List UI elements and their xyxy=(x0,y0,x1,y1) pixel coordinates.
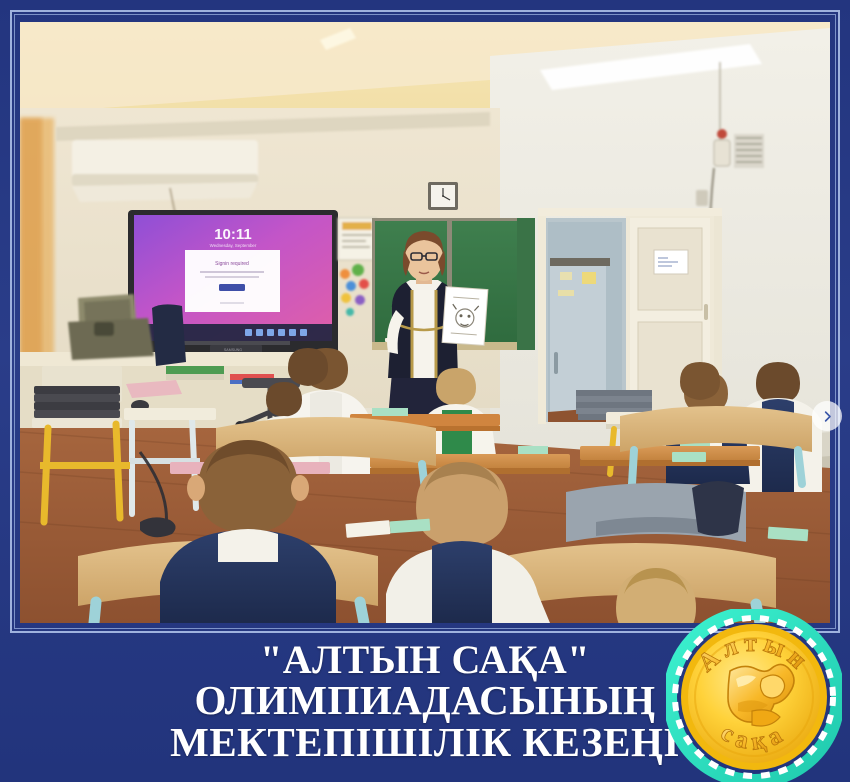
svg-text:Signin required: Signin required xyxy=(215,261,249,267)
social-post-slide: 10:11 Wednesday, September Signin requir… xyxy=(0,0,850,782)
classroom-photo: 10:11 Wednesday, September Signin requir… xyxy=(20,22,830,623)
svg-text:Wednesday, September: Wednesday, September xyxy=(210,243,257,248)
svg-text:10:11: 10:11 xyxy=(214,226,252,243)
svg-text:SAMSUNG: SAMSUNG xyxy=(224,348,242,352)
classroom-illustration: 10:11 Wednesday, September Signin requir… xyxy=(20,22,830,623)
caption-line-2: ОЛИМПИАДАСЫНЫҢ xyxy=(95,679,755,720)
next-slide-button[interactable] xyxy=(812,401,842,431)
caption-line-1: "АЛТЫН САҚА" xyxy=(95,636,755,679)
chevron-right-icon xyxy=(820,409,835,424)
emblem-graphic: Алтын сақа xyxy=(666,609,842,782)
caption-line-3: МЕКТЕПІШІЛІК КЕЗЕҢІ xyxy=(95,721,755,762)
altyn-saka-emblem: Алтын сақа xyxy=(666,609,842,782)
